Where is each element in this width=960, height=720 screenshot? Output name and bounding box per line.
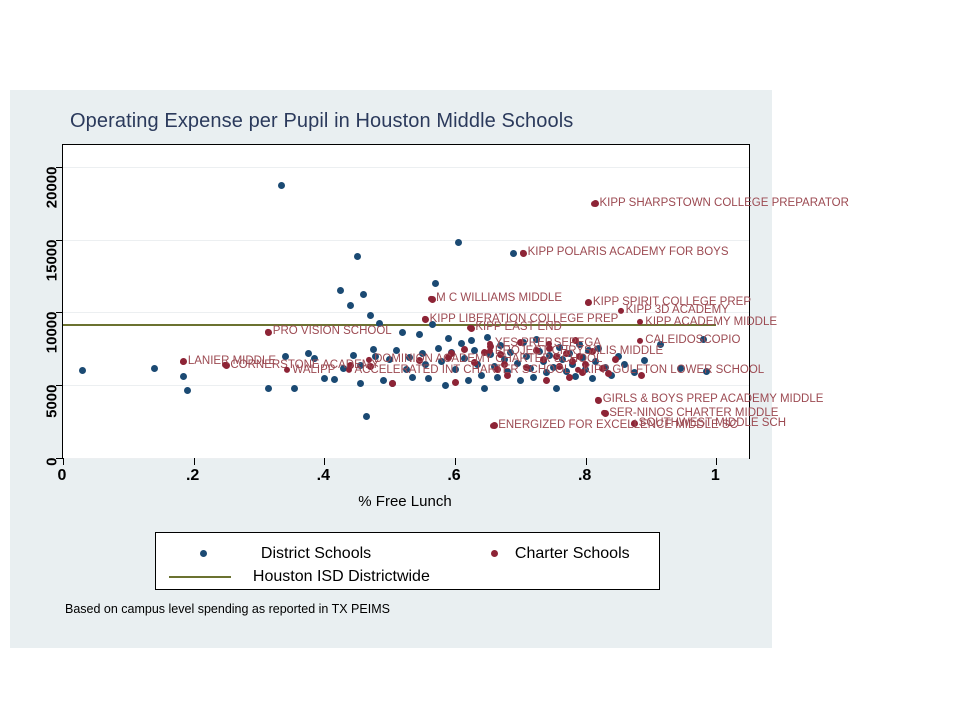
scatter-point (151, 365, 158, 372)
annotation-label: M C WILLIAMS MIDDLE (436, 292, 562, 304)
scatter-point (354, 253, 361, 260)
scatter-point (461, 346, 468, 353)
annotation-marker-icon (346, 367, 352, 373)
annotation-label: PRO VISION SCHOOL (273, 325, 392, 337)
scatter-point (517, 377, 524, 384)
scatter-point (452, 379, 459, 386)
scatter-point (331, 376, 338, 383)
scatter-point (363, 413, 370, 420)
y-axis-tick-label: 15000 (44, 239, 61, 281)
annotation-marker-icon (601, 410, 607, 416)
x-axis-tick (194, 458, 195, 465)
point-annotation: KIPP EAST END (467, 322, 562, 334)
scatter-point (455, 239, 462, 246)
scatter-point (357, 380, 364, 387)
annotation-marker-icon (422, 316, 428, 322)
annotation-marker-icon (222, 362, 228, 368)
scatter-point (445, 335, 452, 342)
plot-area: KIPP SHARPSTOWN COLLEGE PREPARATORKIPP P… (62, 144, 750, 459)
scatter-point (360, 291, 367, 298)
x-axis-tick (63, 458, 64, 465)
annotation-label: KIPP 3D ACADEMY (626, 304, 729, 316)
x-axis-tick-label: 0 (32, 467, 92, 485)
scatter-point (370, 346, 377, 353)
gridline (63, 385, 749, 386)
scatter-point (481, 385, 488, 392)
gridline (63, 167, 749, 168)
scatter-point (468, 337, 475, 344)
annotation-label: GIRLS & BOYS PREP ACADEMY MIDDLE (603, 393, 824, 405)
annotation-label: KIPP ACADEMY MIDDLE (645, 315, 777, 327)
annotation-marker-icon (366, 357, 372, 363)
chart-legend: District Schools Charter Schools Houston… (155, 532, 660, 590)
charter-marker-icon (491, 550, 498, 557)
x-axis-tick (586, 458, 587, 465)
annotation-marker-icon (520, 250, 526, 256)
scatter-point (435, 345, 442, 352)
annotation-marker-icon (637, 319, 643, 325)
x-axis-tick (455, 458, 456, 465)
scatter-point (416, 331, 423, 338)
annotation-marker-icon (637, 337, 643, 343)
annotation-label: KIPP GULFTON LOWER SCHOOL (583, 364, 764, 376)
point-annotation: ENERGIZED FOR EXCELLENCE MIDDLE SC (490, 420, 738, 432)
annotation-label: ENERGIZED FOR EXCELLENCE MIDDLE SC (498, 419, 738, 431)
district-marker-icon (200, 550, 207, 557)
scatter-point (184, 387, 191, 394)
y-axis-tick-label: 5000 (44, 385, 61, 427)
scatter-point (432, 280, 439, 287)
scatter-point (389, 380, 396, 387)
legend-label-charter: Charter Schools (515, 545, 630, 562)
annotation-marker-icon (490, 423, 496, 429)
scatter-point (265, 385, 272, 392)
chart-title: Operating Expense per Pupil in Houston M… (70, 110, 573, 133)
legend-entry-charter: Charter Schools (491, 545, 630, 563)
point-annotation: KIPP ACADEMY MIDDLE (637, 316, 777, 328)
reference-line-icon (169, 576, 231, 578)
scatter-point (291, 385, 298, 392)
scatter-point (180, 373, 187, 380)
annotation-marker-icon (591, 201, 597, 207)
legend-entry-district: District Schools (200, 545, 371, 563)
x-axis-tick-label: .8 (555, 467, 615, 485)
scatter-point (337, 287, 344, 294)
scatter-point (510, 250, 517, 257)
point-annotation: WALIPP (284, 365, 335, 377)
annotation-marker-icon (575, 367, 581, 373)
scatter-point (380, 377, 387, 384)
y-axis-tick-label: 20000 (44, 166, 61, 208)
annotation-label: KIPP EAST END (475, 321, 562, 333)
gridline (63, 240, 749, 241)
chart-panel: Operating Expense per Pupil in Houston M… (10, 90, 772, 648)
annotation-marker-icon (284, 367, 290, 373)
annotation-label: KIPP SHARPSTOWN COLLEGE PREPARATOR (599, 197, 848, 209)
point-annotation: GIRLS & BOYS PREP ACADEMY MIDDLE (595, 394, 824, 406)
point-annotation: KIPP GULFTON LOWER SCHOOL (575, 365, 764, 377)
chart-screenshot: Operating Expense per Pupil in Houston M… (0, 0, 960, 720)
annotation-marker-icon (180, 359, 186, 365)
scatter-point (465, 377, 472, 384)
scatter-point (367, 312, 374, 319)
annotation-label: WALIPP (292, 364, 335, 376)
chart-footnote: Based on campus level spending as report… (65, 602, 390, 616)
x-axis-title: % Free Lunch (345, 493, 465, 510)
x-axis-tick-label: .2 (163, 467, 223, 485)
annotation-marker-icon (265, 329, 271, 335)
x-axis-tick-label: .4 (293, 467, 353, 485)
x-axis-tick (324, 458, 325, 465)
legend-label-reference-line: Houston ISD Districtwide (253, 568, 430, 585)
annotation-marker-icon (585, 300, 591, 306)
point-annotation: KIPP POLARIS ACADEMY FOR BOYS (520, 247, 729, 259)
scatter-point (79, 367, 86, 374)
annotation-label: ACCELERATED INT CHARTER SCHOOL (354, 364, 570, 376)
y-axis-tick-label: 10000 (44, 312, 61, 354)
x-axis-tick-label: .6 (424, 467, 484, 485)
annotation-marker-icon (467, 325, 473, 331)
scatter-point (399, 329, 406, 336)
scatter-point (442, 382, 449, 389)
scatter-point (347, 302, 354, 309)
point-annotation: M C WILLIAMS MIDDLE (428, 293, 562, 305)
point-annotation: ACCELERATED INT CHARTER SCHOOL (346, 365, 570, 377)
legend-label-district: District Schools (261, 545, 371, 562)
scatter-point (553, 385, 560, 392)
x-axis-tick (716, 458, 717, 465)
legend-entry-reference-line: Houston ISD Districtwide (169, 568, 430, 586)
x-axis-tick-label: 1 (685, 467, 745, 485)
scatter-point (543, 377, 550, 384)
scatter-point (278, 182, 285, 189)
annotation-label: KIPP POLARIS ACADEMY FOR BOYS (528, 246, 729, 258)
point-annotation: KIPP SHARPSTOWN COLLEGE PREPARATOR (591, 198, 848, 210)
annotation-marker-icon (595, 397, 601, 403)
gridline (63, 458, 749, 459)
point-annotation: PRO VISION SCHOOL (265, 326, 392, 338)
annotation-marker-icon (428, 296, 434, 302)
